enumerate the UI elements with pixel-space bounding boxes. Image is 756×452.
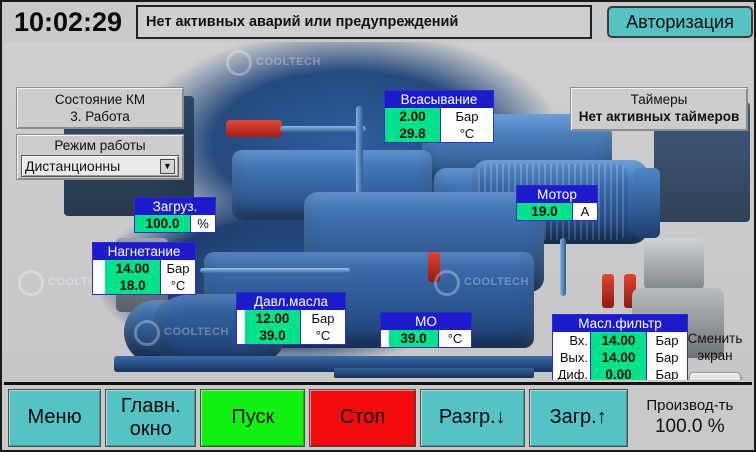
tag-oil-pressure-value: 12.00	[245, 310, 301, 327]
authorization-button-label: Авторизация	[626, 12, 734, 33]
compressor-state-panel: Состояние КМ 3. Работа	[16, 87, 184, 129]
operating-mode-title: Режим работы	[17, 137, 183, 154]
tag-load-unit: %	[191, 215, 215, 232]
capacity-label: Производ-ть	[646, 396, 733, 415]
tag-discharge-title: Нагнетание	[93, 243, 195, 260]
tag-discharge-temperature-value: 18.0	[105, 277, 161, 294]
change-screen-button[interactable]	[689, 372, 741, 380]
watermark-text: COOLTECH	[256, 56, 321, 68]
tag-oil-filter-title: Масл.фильтр	[553, 315, 687, 332]
tag-motor-current-unit: A	[573, 203, 597, 220]
load-button[interactable]: Загр.↑	[529, 389, 628, 447]
tag-oil-filter-diff-unit: Бар	[647, 366, 687, 380]
tag-motor-current-value: 19.0	[517, 203, 573, 220]
tag-oil-filter-diff-label: Диф.	[553, 366, 591, 380]
tag-discharge-pressure-unit: Бар	[161, 260, 195, 277]
operating-mode-select[interactable]: Дистанционны ▼	[21, 155, 179, 177]
tag-oil-temperature-value: 39.0	[245, 327, 301, 344]
tag-oil-filter-row: Диф. 0.00 Бар	[553, 366, 687, 380]
timers-value: Нет активных таймеров	[571, 108, 747, 125]
tag-oil-filter-inlet-label: Вх.	[553, 332, 591, 349]
start-button-label: Пуск	[231, 406, 274, 429]
operating-mode-panel: Режим работы Дистанционны ▼	[16, 134, 184, 180]
tag-oil-filter-inlet-value: 14.00	[591, 332, 647, 349]
tag-suction: Всасывание 2.00 Бар 29.8 °C	[384, 90, 494, 143]
load-button-label: Загр.↑	[550, 406, 607, 429]
tag-oil-pressure-unit: Бар	[301, 310, 345, 327]
stop-button-label: Стоп	[340, 406, 385, 429]
tag-oil-temperature-unit: °C	[301, 327, 345, 344]
main-window-button-label-line2: окно	[121, 418, 181, 441]
capacity-readout: Производ-ть 100.0 %	[632, 389, 748, 447]
tag-suction-temperature-unit: °C	[441, 125, 493, 142]
tag-mo-row: 39.0 °C	[381, 330, 471, 347]
start-button[interactable]: Пуск	[200, 389, 305, 447]
tag-oil-pressure: Давл.масла 12.00 Бар 39.0 °C	[236, 292, 346, 345]
compressor-state-value: 3. Работа	[17, 108, 183, 125]
tag-mo: МО 39.0 °C	[380, 312, 472, 348]
watermark-ring	[226, 50, 252, 76]
operating-mode-selected-value: Дистанционны	[25, 158, 120, 174]
main-window-button[interactable]: Главн. окно	[105, 389, 196, 447]
tag-load: Загруз. 100.0 %	[134, 197, 216, 233]
unload-button[interactable]: Разгр.↓	[420, 389, 525, 447]
hmi-screen: 10:02:29 Нет активных аварий или предупр…	[0, 0, 756, 452]
tag-suction-row: 2.00 Бар	[385, 108, 493, 125]
bottom-button-bar: Меню Главн. окно Пуск Стоп Разгр.↓ Загр.…	[4, 382, 752, 450]
tag-suction-pressure-value: 2.00	[385, 108, 441, 125]
tag-suction-temperature-value: 29.8	[385, 125, 441, 142]
capacity-value: 100.0 %	[655, 415, 725, 439]
tag-oil-filter: Масл.фильтр Вх. 14.00 Бар Вых. 14.00 Бар…	[552, 314, 688, 380]
tag-discharge-row: 14.00 Бар	[93, 260, 195, 277]
tag-motor-title: Мотор	[517, 186, 597, 203]
tag-oil-filter-row: Вх. 14.00 Бар	[553, 332, 687, 349]
tag-oil-filter-outlet-unit: Бар	[647, 349, 687, 366]
tag-oil-filter-outlet-value: 14.00	[591, 349, 647, 366]
unload-button-label: Разгр.↓	[439, 406, 506, 429]
tag-load-row: 100.0 %	[135, 215, 215, 232]
tag-oil-pressure-row: 12.00 Бар	[237, 310, 345, 327]
watermark-ring	[18, 270, 44, 296]
tag-discharge-pressure-value: 14.00	[105, 260, 161, 277]
tag-oil-pressure-title: Давл.масла	[237, 293, 345, 310]
tag-mo-value: 39.0	[389, 330, 439, 347]
timers-title: Таймеры	[571, 91, 747, 108]
compressor-state-title: Состояние КМ	[17, 91, 183, 108]
tag-oil-filter-inlet-unit: Бар	[647, 332, 687, 349]
menu-button-label: Меню	[28, 406, 82, 429]
stop-button[interactable]: Стоп	[309, 389, 416, 447]
tag-mo-unit: °C	[439, 330, 471, 347]
tag-oil-filter-diff-value: 0.00	[591, 366, 647, 380]
main-window-button-label-line1: Главн.	[121, 395, 181, 418]
tag-suction-row: 29.8 °C	[385, 125, 493, 142]
clock-display: 10:02:29	[2, 3, 134, 41]
tag-suction-pressure-unit: Бар	[441, 108, 493, 125]
tag-suction-title: Всасывание	[385, 91, 493, 108]
alarm-status-banner: Нет активных аварий или предупреждений	[136, 5, 592, 39]
tag-discharge-row: 18.0 °C	[93, 277, 195, 294]
tag-discharge-temperature-unit: °C	[161, 277, 195, 294]
tag-oil-pressure-row: 39.0 °C	[237, 327, 345, 344]
tag-mo-title: МО	[381, 313, 471, 330]
tag-load-title: Загруз.	[135, 198, 215, 215]
tag-discharge: Нагнетание 14.00 Бар 18.0 °C	[92, 242, 196, 295]
tag-load-value: 100.0	[135, 215, 191, 232]
alarm-status-text: Нет активных аварий или предупреждений	[146, 14, 458, 30]
timers-panel: Таймеры Нет активных таймеров	[570, 87, 748, 131]
tag-motor: Мотор 19.0 A	[516, 185, 598, 221]
tag-oil-filter-row: Вых. 14.00 Бар	[553, 349, 687, 366]
main-mimic-area: COOLTECH COOLTECH COOLTECH COOLTECH Сост…	[4, 42, 752, 380]
tag-motor-row: 19.0 A	[517, 203, 597, 220]
tag-oil-filter-outlet-label: Вых.	[553, 349, 591, 366]
menu-button[interactable]: Меню	[8, 389, 101, 447]
authorization-button[interactable]: Авторизация	[607, 6, 753, 38]
chevron-down-icon[interactable]: ▼	[160, 159, 175, 174]
